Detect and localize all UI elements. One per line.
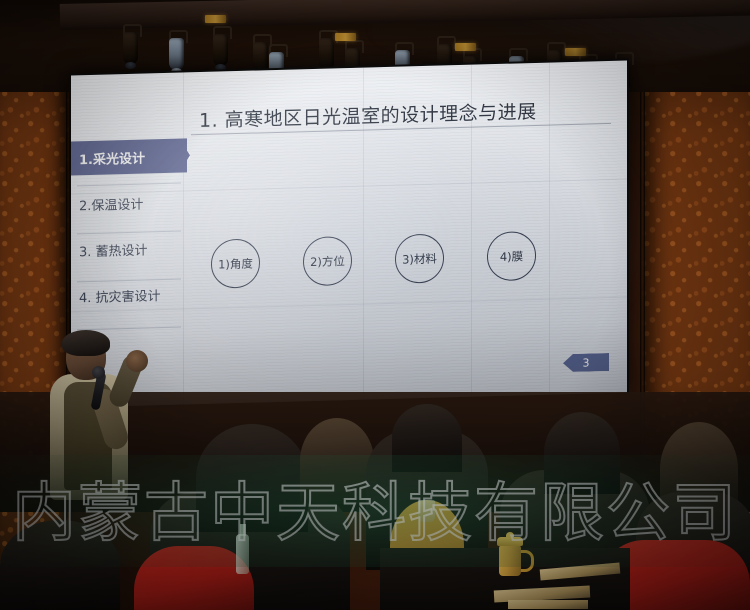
presenter	[42, 330, 172, 500]
audience-member	[300, 418, 374, 504]
presentation-photo: 1. 高寒地区日光温室的设计理念与进展 1.采光设计 ◄ 2.保温设计 3. 蓄…	[0, 0, 750, 610]
light-indicator-badge	[565, 48, 586, 56]
slide-title: 1. 高寒地区日光温室的设计理念与进展	[199, 97, 537, 133]
microphone-capsule	[92, 366, 105, 379]
slide-nav-item-1[interactable]: 1.采光设计 ◄	[71, 138, 187, 175]
diagram-circle-label: 1)角度	[218, 255, 253, 272]
diagram-circle-2[interactable]: 2)方位	[303, 236, 352, 286]
mug-handle	[519, 550, 534, 572]
audience-member	[544, 412, 620, 494]
slide-nav: 1.采光设计 ◄ 2.保温设计 3. 蓄热设计 4. 抗灾害设计	[71, 138, 183, 313]
drinking-glass	[418, 500, 435, 522]
circle-diagram: 1)角度 2)方位 3)材料 4)膜	[211, 231, 536, 289]
slide-nav-label: 1.采光设计	[79, 147, 145, 168]
slide-nav-item-4[interactable]: 4. 抗灾害设计	[71, 276, 183, 313]
stage-light-icon	[212, 26, 229, 72]
audience-member	[196, 424, 308, 532]
slide-nav-item-3[interactable]: 3. 蓄热设计	[71, 230, 183, 267]
stage-light-icon	[122, 24, 139, 70]
slide-nav-item-2[interactable]: 2.保温设计	[71, 184, 183, 221]
mug-knob	[506, 532, 514, 539]
light-indicator-badge	[335, 33, 356, 41]
audience-member	[0, 520, 120, 610]
presenter-hair	[62, 330, 110, 356]
tea-mug	[499, 545, 521, 576]
diagram-circle-1[interactable]: 1)角度	[211, 238, 260, 288]
diagram-circle-label: 3)材料	[402, 250, 437, 267]
slide-nav-label: 4. 抗灾害设计	[79, 285, 161, 306]
light-indicator-badge	[205, 15, 226, 23]
diagram-circle-label: 4)膜	[500, 248, 523, 265]
light-indicator-badge	[455, 43, 476, 51]
audience-member	[392, 404, 462, 472]
water-bottle	[236, 534, 249, 574]
diagram-circle-4[interactable]: 4)膜	[487, 231, 536, 281]
chevron-left-icon: ◄	[180, 149, 190, 162]
diagram-circle-3[interactable]: 3)材料	[395, 233, 444, 283]
presenter-hand	[126, 350, 148, 372]
slide-page-number: 3	[563, 353, 609, 372]
diagram-circle-label: 2)方位	[310, 253, 345, 270]
slide-nav-label: 3. 蓄热设计	[79, 239, 148, 260]
slide-nav-label: 2.保温设计	[79, 193, 143, 214]
stage-light-icon	[168, 30, 185, 76]
paper-sheet	[508, 600, 588, 609]
page-number-label: 3	[583, 356, 590, 369]
